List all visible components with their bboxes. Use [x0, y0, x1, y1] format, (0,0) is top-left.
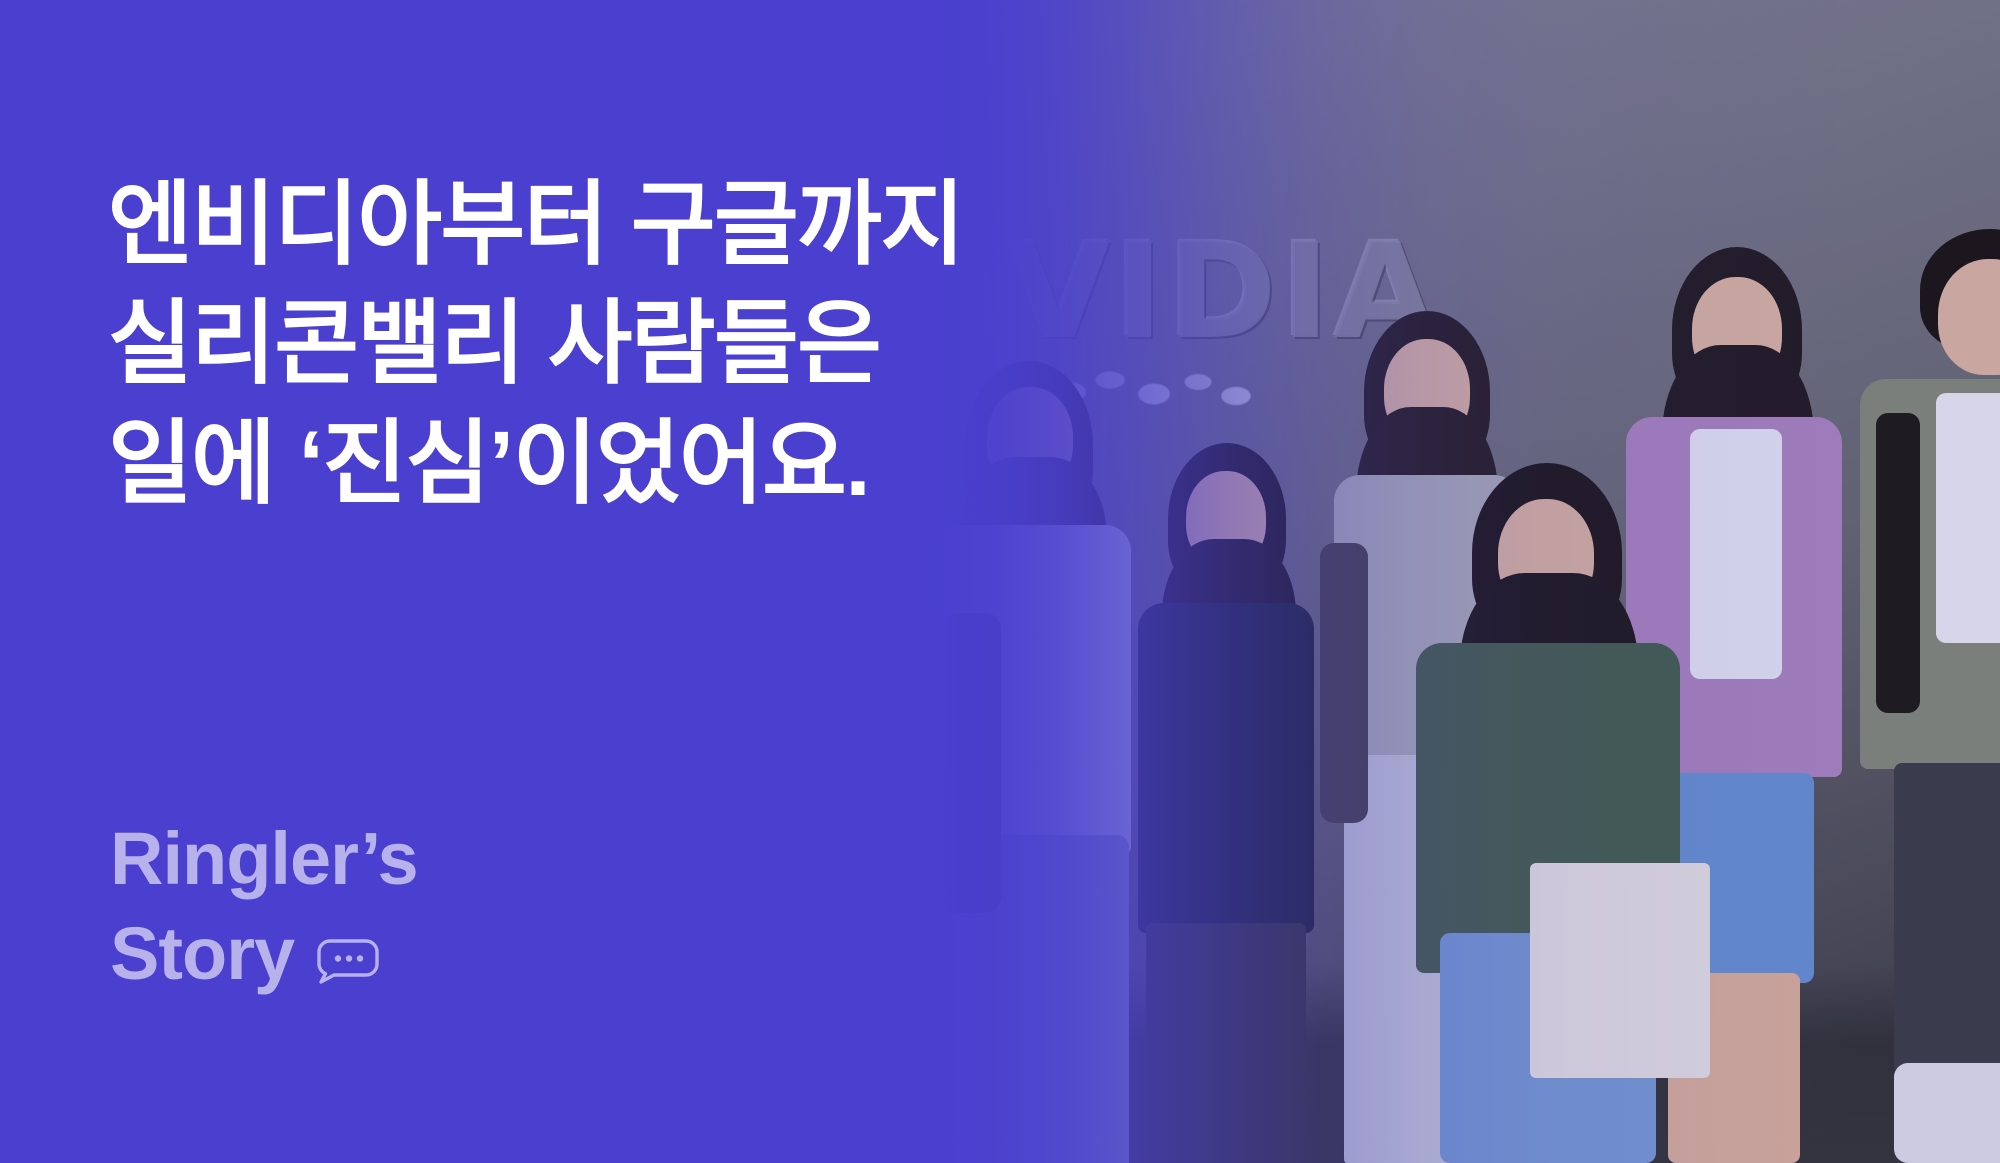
- headline-line-1: 엔비디아부터 구글까지: [108, 166, 988, 286]
- hero-banner: nVIDIA: [0, 0, 2000, 1163]
- story-label-line-2: Story: [110, 907, 294, 1002]
- hero-content: 엔비디아부터 구글까지 실리콘밸리 사람들은 일에 ‘진심’이었어요. Ring…: [0, 0, 1000, 1163]
- headline-line-2: 실리콘밸리 사람들은: [108, 285, 988, 405]
- story-label-line-2-row: Story: [110, 907, 418, 1002]
- headline-line-3: 일에 ‘진심’이었어요.: [108, 405, 988, 525]
- story-label: Ringler’s Story: [110, 812, 418, 1001]
- page-title: 엔비디아부터 구글까지 실리콘밸리 사람들은 일에 ‘진심’이었어요.: [108, 166, 988, 525]
- story-label-line-1: Ringler’s: [110, 812, 418, 907]
- chat-bubble-dots-icon: [314, 936, 380, 984]
